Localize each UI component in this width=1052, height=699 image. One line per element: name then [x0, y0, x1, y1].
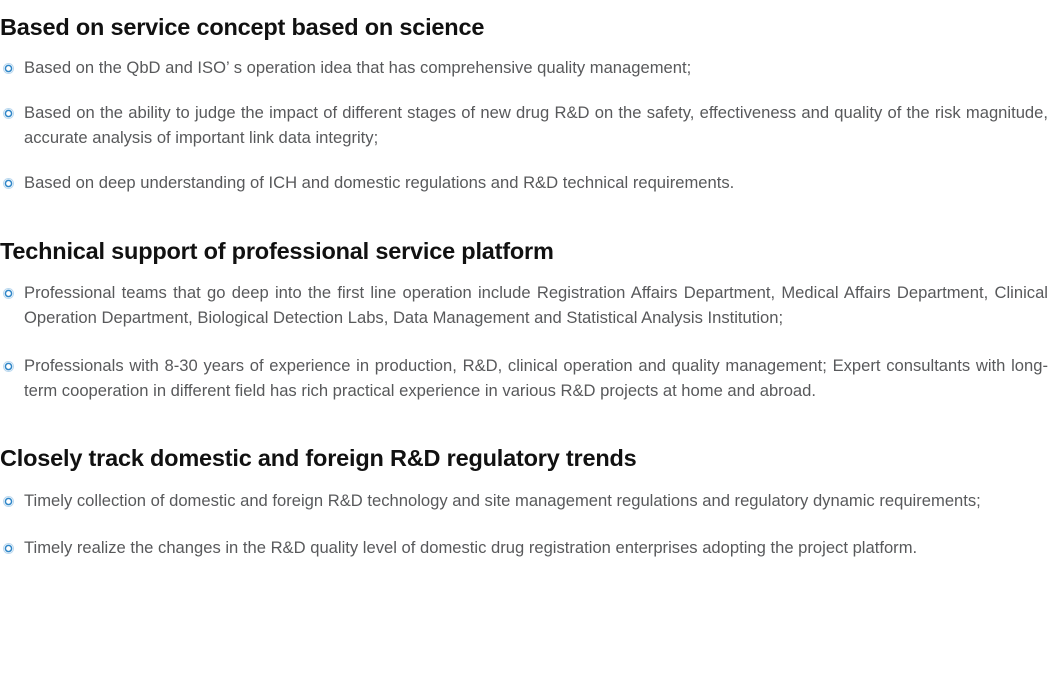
circle-ring-bullet-icon [3, 178, 14, 189]
list-item-text: Professionals with 8-30 years of experie… [24, 353, 1048, 404]
section-heading: Technical support of professional servic… [0, 240, 1052, 264]
section-heading: Based on service concept based on scienc… [0, 16, 1052, 40]
list-item-text: Timely realize the changes in the R&D qu… [24, 535, 1048, 560]
list-item: Timely collection of domestic and foreig… [0, 488, 1052, 513]
bullet-list: Based on the QbD and ISO’ s operation id… [0, 55, 1052, 196]
section-technical-support: Technical support of professional servic… [0, 240, 1052, 404]
list-item: Based on deep understanding of ICH and d… [0, 170, 1052, 195]
list-item: Based on the QbD and ISO’ s operation id… [0, 55, 1052, 80]
list-item: Professionals with 8-30 years of experie… [0, 353, 1052, 404]
list-item-text: Based on the ability to judge the impact… [24, 100, 1048, 151]
list-item-text: Based on deep understanding of ICH and d… [24, 170, 1048, 195]
section-heading: Closely track domestic and foreign R&D r… [0, 447, 1052, 471]
circle-ring-bullet-icon [3, 496, 14, 507]
bullet-list: Timely collection of domestic and foreig… [0, 488, 1052, 561]
list-item: Based on the ability to judge the impact… [0, 100, 1052, 151]
circle-ring-bullet-icon [3, 543, 14, 554]
document-page: Based on service concept based on scienc… [0, 16, 1052, 699]
list-item-text: Based on the QbD and ISO’ s operation id… [24, 55, 1048, 80]
list-item: Timely realize the changes in the R&D qu… [0, 535, 1052, 560]
circle-ring-bullet-icon [3, 108, 14, 119]
list-item-text: Professional teams that go deep into the… [24, 280, 1048, 331]
bullet-list: Professional teams that go deep into the… [0, 280, 1052, 403]
list-item: Professional teams that go deep into the… [0, 280, 1052, 331]
circle-ring-bullet-icon [3, 361, 14, 372]
section-regulatory-trends: Closely track domestic and foreign R&D r… [0, 447, 1052, 560]
list-item-text: Timely collection of domestic and foreig… [24, 488, 1048, 513]
section-service-concept: Based on service concept based on scienc… [0, 16, 1052, 196]
circle-ring-bullet-icon [3, 288, 14, 299]
circle-ring-bullet-icon [3, 63, 14, 74]
